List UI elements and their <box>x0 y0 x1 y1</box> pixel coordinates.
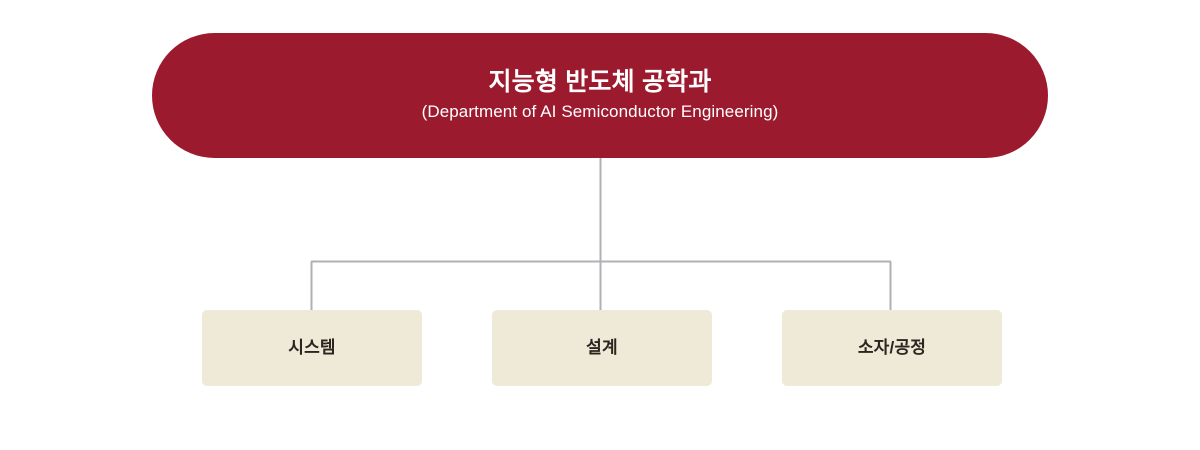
child-node-label: 설계 <box>586 339 618 358</box>
root-node-department: 지능형 반도체 공학과 (Department of AI Semiconduc… <box>152 33 1048 158</box>
child-node-device-process: 소자/공정 <box>782 310 1002 386</box>
root-node-title: 지능형 반도체 공학과 <box>488 69 711 97</box>
child-node-system: 시스템 <box>202 310 422 386</box>
child-node-design: 설계 <box>492 310 712 386</box>
child-node-label: 시스템 <box>288 339 336 358</box>
org-chart-diagram: 지능형 반도체 공학과 (Department of AI Semiconduc… <box>0 0 1200 450</box>
child-node-label: 소자/공정 <box>858 339 926 358</box>
root-node-subtitle: (Department of AI Semiconductor Engineer… <box>422 103 779 122</box>
